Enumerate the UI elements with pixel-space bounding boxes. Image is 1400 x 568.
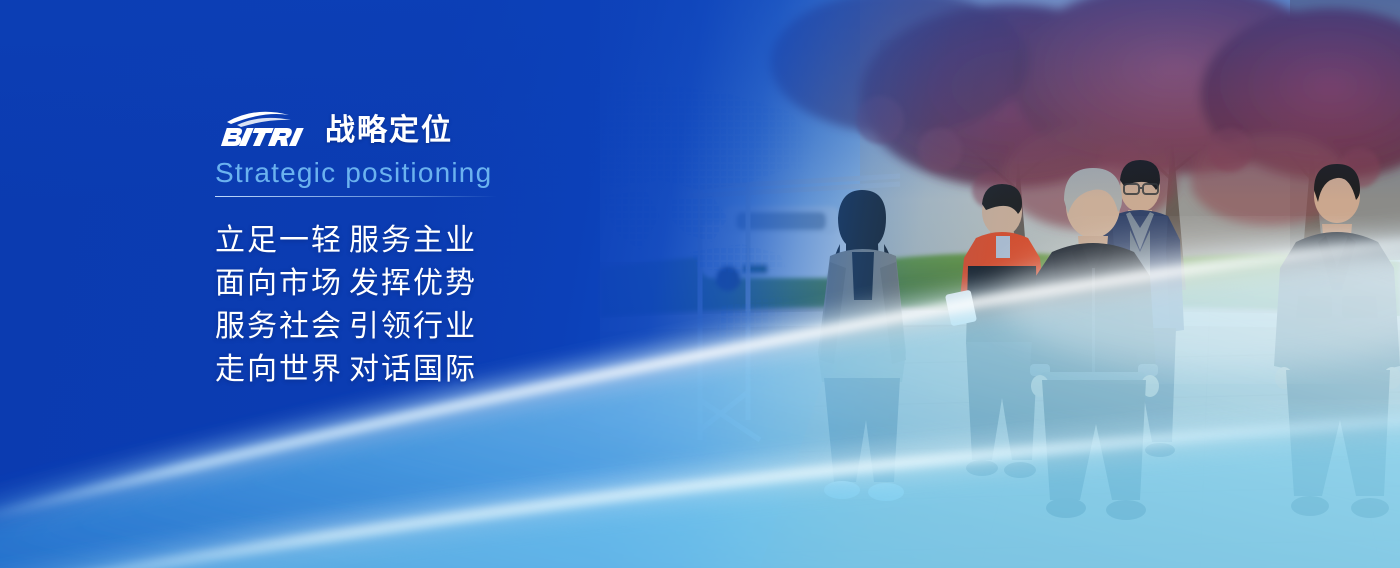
bitri-logo (215, 108, 311, 148)
slogan-list: 立足一轻 服务主业 面向市场 发挥优势 服务社会 引领行业 走向世界 对话国际 (215, 219, 560, 391)
slogan-4-left: 走向世界 (215, 348, 349, 391)
slogan-2-left: 面向市场 (215, 262, 349, 305)
slogan-4-right: 对话国际 (349, 348, 477, 391)
slogan-line-1: 立足一轻 服务主业 (215, 219, 560, 262)
slogan-1-left: 立足一轻 (215, 219, 349, 262)
logo-swoosh-icon (227, 112, 291, 127)
slogan-3-right: 引领行业 (349, 305, 477, 348)
slogan-2-right: 发挥优势 (349, 262, 477, 305)
banner-text-block: 战略定位 Strategic positioning 立足一轻 服务主业 面向市… (0, 0, 560, 391)
banner-subtitle: Strategic positioning (215, 156, 560, 190)
strategic-positioning-banner: 战略定位 Strategic positioning 立足一轻 服务主业 面向市… (0, 0, 1400, 568)
banner-title-row: 战略定位 (215, 106, 560, 148)
slogan-3-left: 服务社会 (215, 305, 349, 348)
slogan-line-4: 走向世界 对话国际 (215, 348, 560, 391)
page-title: 战略定位 (325, 115, 453, 147)
logo-wordmark (221, 128, 304, 146)
slogan-1-right: 服务主业 (349, 219, 477, 262)
title-divider (215, 196, 497, 197)
slogan-line-2: 面向市场 发挥优势 (215, 262, 560, 305)
slogan-line-3: 服务社会 引领行业 (215, 305, 560, 348)
